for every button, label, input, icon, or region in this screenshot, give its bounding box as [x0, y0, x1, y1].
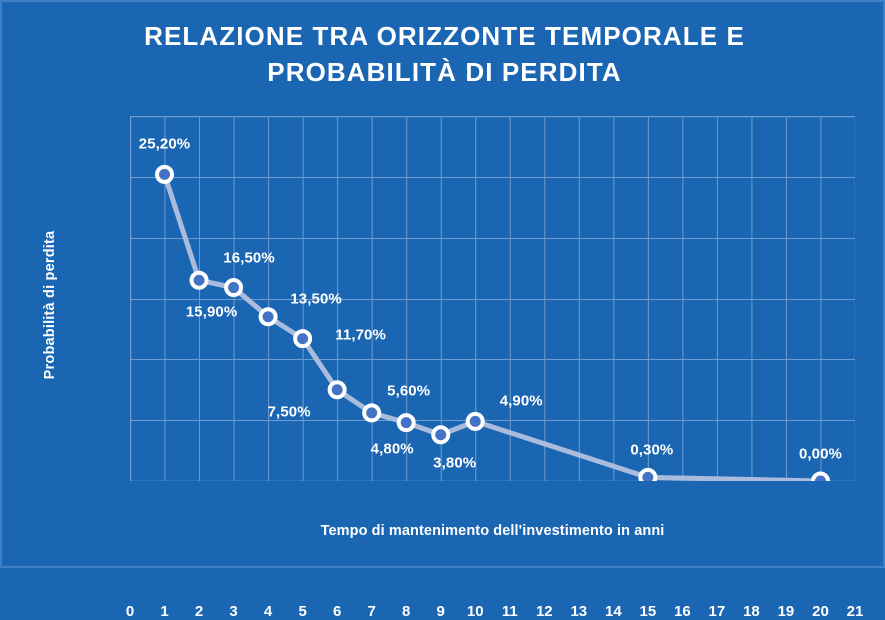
data-point-label: 3,80%: [433, 454, 476, 471]
data-point-marker[interactable]: [468, 414, 483, 429]
data-point-marker[interactable]: [192, 273, 207, 288]
chart-title-line-2: PROBABILITÀ DI PERDITA: [2, 54, 885, 90]
page-title: RELAZIONE TRA ORIZZONTE TEMPORALE E PROB…: [2, 18, 885, 90]
data-point-marker[interactable]: [330, 382, 345, 397]
x-axis-tick-label: 21: [835, 603, 875, 620]
data-point-label: 0,30%: [630, 442, 673, 459]
data-point-marker[interactable]: [261, 309, 276, 324]
y-axis-title: Probabilità di perdita: [42, 195, 58, 415]
data-point-marker[interactable]: [813, 474, 828, 482]
plot-area: 01234567891011121314151617181920210,00%5…: [130, 116, 855, 481]
chart-title-line-1: RELAZIONE TRA ORIZZONTE TEMPORALE E: [2, 18, 885, 54]
chart-container: RELAZIONE TRA ORIZZONTE TEMPORALE E PROB…: [0, 0, 885, 568]
data-line: [165, 174, 821, 481]
data-point-label: 7,50%: [268, 403, 311, 420]
data-point-marker[interactable]: [157, 167, 172, 182]
data-point-label: 0,00%: [799, 446, 842, 463]
data-point-marker[interactable]: [295, 331, 310, 346]
plot-svg: [130, 116, 855, 481]
data-point-marker[interactable]: [433, 427, 448, 442]
data-point-label: 4,80%: [371, 440, 414, 457]
data-point-marker[interactable]: [226, 280, 241, 295]
x-axis-title: Tempo di mantenimento dell'investimento …: [130, 523, 855, 539]
data-point-label: 25,20%: [139, 136, 190, 153]
data-point-label: 13,50%: [290, 290, 341, 307]
series-markers: [157, 167, 828, 481]
data-point-label: 16,50%: [223, 250, 274, 267]
data-point-label: 4,90%: [500, 393, 543, 410]
data-point-marker[interactable]: [364, 405, 379, 420]
data-point-label: 5,60%: [387, 382, 430, 399]
data-point-label: 15,90%: [186, 303, 237, 320]
data-point-label: 11,70%: [335, 326, 386, 343]
data-point-marker[interactable]: [399, 415, 414, 430]
data-point-marker[interactable]: [640, 470, 655, 481]
series-line: [165, 174, 821, 481]
